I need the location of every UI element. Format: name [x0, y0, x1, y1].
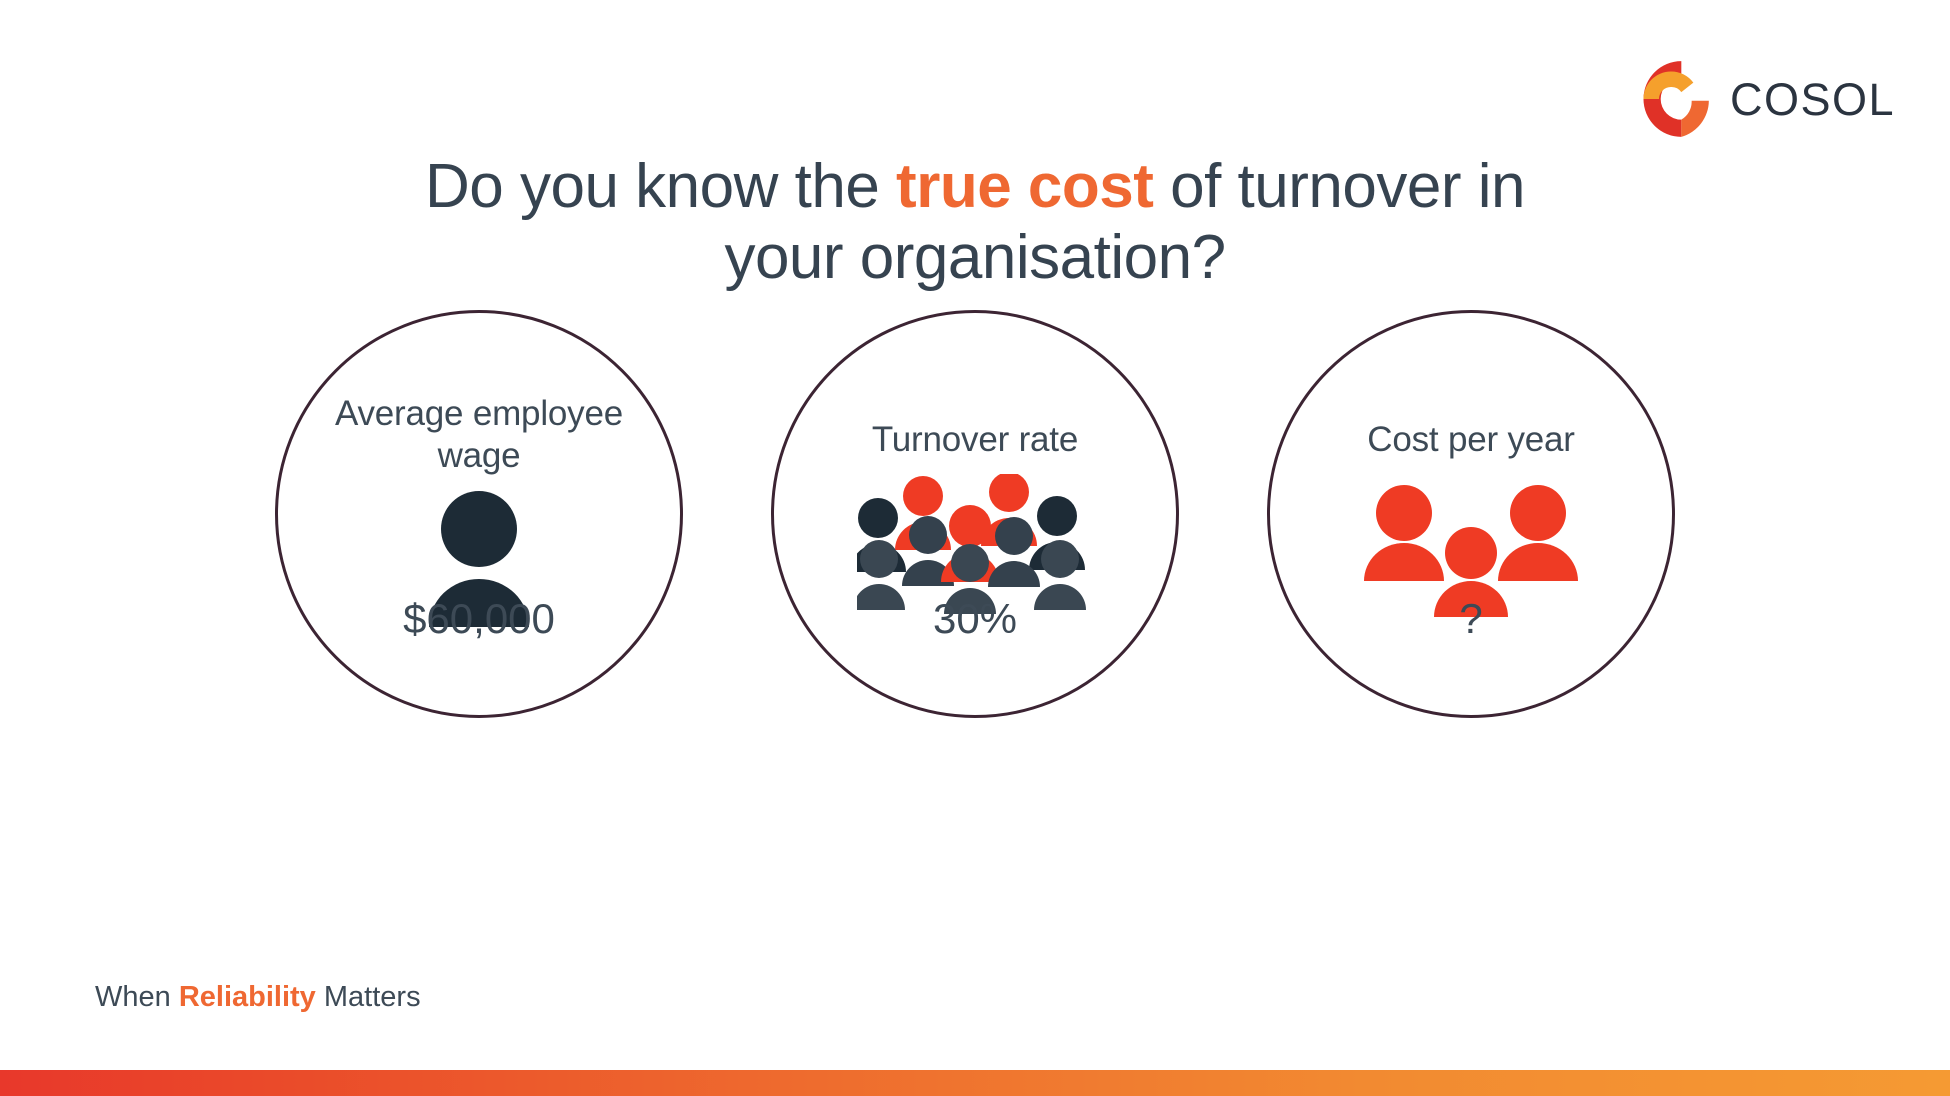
stat-circle-average-wage: Average employee wage $60,000: [275, 310, 683, 718]
stat-value: ?: [1270, 595, 1672, 643]
cosol-logo-text: COSOL: [1730, 77, 1895, 122]
title-line2: your organisation?: [724, 223, 1225, 292]
stat-circle-turnover-rate: Turnover rate: [771, 310, 1179, 718]
tagline-pre: When: [95, 981, 179, 1013]
bottom-gradient-bar: [0, 1070, 1950, 1096]
stat-value: $60,000: [278, 595, 680, 643]
title-line1-post: of turnover in: [1153, 152, 1525, 221]
tagline-accent: Reliability: [179, 981, 316, 1013]
stat-value: 30%: [774, 595, 1176, 643]
tagline-post: Matters: [316, 981, 421, 1013]
stat-label: Turnover rate: [810, 419, 1140, 461]
cosol-ring-logo-icon: [1628, 56, 1714, 142]
title-line1-pre: Do you know the: [425, 152, 896, 221]
stat-label: Average employee wage: [314, 393, 644, 477]
title-accent: true cost: [896, 152, 1153, 221]
stat-circle-cost-per-year: Cost per year: [1267, 310, 1675, 718]
cosol-logo: COSOL: [1628, 56, 1895, 142]
footer-tagline: When Reliability Matters: [95, 981, 421, 1014]
slide-root: COSOL Do you know the true cost of turno…: [0, 0, 1950, 1096]
stat-circle-row: Average employee wage $60,000 Turnover r…: [0, 310, 1950, 740]
stat-label: Cost per year: [1306, 419, 1636, 461]
people-group-icon: [857, 475, 1093, 615]
page-title: Do you know the true cost of turnover in…: [275, 152, 1675, 293]
